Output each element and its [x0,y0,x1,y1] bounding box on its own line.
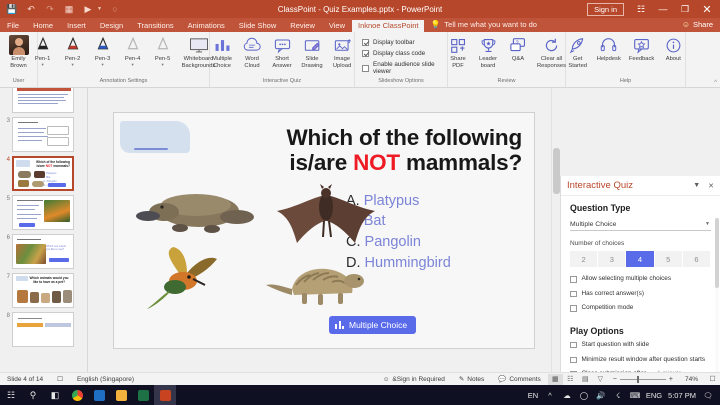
pen-5-caret-icon[interactable]: ▼ [161,63,165,67]
display-toolbar-label: Display toolbar [373,39,415,46]
group-label-interactive-quiz: Interactive Quiz [213,78,351,85]
tab-file[interactable]: File [0,20,26,33]
ribbon-display-options-icon[interactable]: ☷ [630,0,652,18]
image-upload-button[interactable]: Image Upload [327,34,357,71]
panel-title: Interactive Quiz [567,180,633,191]
pen-5-button[interactable]: Pen-5 ▼ [148,34,178,68]
multiple-choice-button[interactable]: Multiple Choice [207,34,237,71]
slide-scrollbar[interactable] [551,88,560,372]
play-options-heading: Play Options [570,326,711,336]
number-of-choices-label: Number of choices [570,240,711,247]
user-name-label: Emily Brown [10,56,26,70]
slide-title-highlight: NOT [353,150,400,175]
ribbon-group-slideshow-options: Display toolbar Display class code Enabl… [355,32,448,87]
comments-button[interactable]: 💬 Comments [491,375,548,383]
start-question-with-slide-label: Start question with slide [582,341,650,350]
pen-2-caret-icon[interactable]: ▼ [71,63,75,67]
notes-label: Notes [467,376,484,383]
tab-view[interactable]: View [322,20,352,33]
tab-home[interactable]: Home [26,20,60,33]
search-icon[interactable]: ⚲ [22,385,44,405]
comment-icon: 💬 [498,375,506,383]
qa-button[interactable]: ? Q&A [503,34,533,64]
get-started-button[interactable]: Get Started [563,34,593,71]
input-language[interactable]: ENG [644,385,664,405]
allow-multiple-choices-label: Allow selecting multiple choices [582,275,672,284]
pen-gray-icon [152,35,174,55]
headset-icon [598,35,620,55]
window-controls: Sign in ☷ — ❐ ✕ [587,0,720,18]
notes-icon: ✎ [459,375,464,383]
zoom-slider[interactable]: − + [608,376,678,383]
ribbon-group-interactive-quiz: Multiple Choice Word Cloud Short Answer [210,32,355,87]
pangolin-image [262,255,378,311]
zoom-level[interactable]: 74% [678,376,705,383]
has-correct-answers-label: Has correct answer(s) [582,290,645,299]
svg-text:?: ? [515,40,518,46]
tab-transitions[interactable]: Transitions [130,20,180,33]
slide-counter[interactable]: Slide 4 of 14 [0,376,50,383]
display-class-code-checkbox[interactable]: Display class code [362,48,425,59]
image-upload-label: Image Upload [333,56,351,70]
customize-qat-icon[interactable]: ○ [109,3,121,15]
has-correct-answers-checkbox[interactable]: Has correct answer(s) [570,290,711,299]
pen-4-caret-icon[interactable]: ▼ [131,63,135,67]
chrome-icon[interactable] [66,385,88,405]
thumbnail-item[interactable]: 6 Which one would you like to see? [0,232,87,271]
slide-drawing-button[interactable]: Slide Drawing [297,34,327,71]
about-button[interactable]: About [658,34,688,64]
pen-1-caret-icon[interactable]: ▼ [41,63,45,67]
checkbox-icon [362,65,369,72]
chevron-up-icon[interactable]: ^ [542,385,558,405]
ribbon-tabs: File Home Insert Design Transitions Anim… [0,18,720,32]
chevron-down-icon: ▼ [705,221,710,227]
short-answer-button[interactable]: Short Answer [267,34,297,71]
ribbon-group-help: Get Started Helpdesk Feedback [566,32,686,87]
tab-inknoe-classpoint[interactable]: Inknoe ClassPoint [352,20,424,33]
slide-sorter-icon[interactable]: ☷ [563,374,578,385]
about-label: About [666,56,681,63]
choice-count-3[interactable]: 3 [598,251,625,267]
display-class-code-label: Display class code [373,50,425,57]
enable-audience-slide-viewer-label: Enable audience slide viewer [373,61,444,75]
notification-icon[interactable]: 🗨 [700,385,716,405]
checkbox-icon [570,276,577,283]
redo-icon[interactable]: ↷ [44,3,56,15]
share-pdf-icon [447,35,469,55]
minimize-icon[interactable]: — [652,0,674,18]
title-bar: 💾 ↶ ↷ ▦ ▶ ▼ ○ ClassPoint - Quiz Examples… [0,0,720,18]
outlook-icon[interactable] [88,385,110,405]
normal-view-icon[interactable]: ▦ [548,374,563,385]
pen-1-button[interactable]: Pen-1 ▼ [28,34,58,68]
scrollbar-thumb[interactable] [715,218,719,288]
interactive-quiz-panel: Interactive Quiz ▼ ✕ Question Type Multi… [560,176,720,405]
group-label-review: Review [451,78,562,85]
slide-drawing-label: Slide Drawing [301,56,322,70]
thumbnail-number: 4 [3,156,12,163]
pen-4-button[interactable]: Pen-4 ▼ [118,34,148,68]
network-icon[interactable]: ◯ [576,385,592,405]
group-label-user: User [3,78,34,85]
scrollbar-thumb[interactable] [553,148,560,194]
checkbox-icon [570,342,577,349]
task-view-icon[interactable]: ◧ [44,385,66,405]
file-explorer-icon[interactable] [110,385,132,405]
pencil-slide-icon [301,35,323,55]
bar-chart-icon [335,321,344,329]
onedrive-icon[interactable]: ☁ [559,385,575,405]
restore-icon[interactable]: ❐ [674,0,696,18]
excel-icon[interactable] [132,385,154,405]
info-icon [662,35,684,55]
cloud-icon [241,35,263,55]
qa-label: Q&A [512,56,524,63]
trophy-icon [477,35,499,55]
enable-audience-slide-viewer-checkbox[interactable]: Enable audience slide viewer [362,59,444,77]
bluetooth-icon[interactable]: ☇ [610,385,626,405]
choice-count-2[interactable]: 2 [570,251,597,267]
choice-count-5[interactable]: 5 [655,251,682,267]
multiple-choice-label: Multiple Choice [212,56,232,70]
share-pdf-button[interactable]: Share PDF [443,34,473,71]
feedback-button[interactable]: Feedback [625,34,658,64]
checkbox-icon [362,39,369,46]
chevron-down-icon[interactable]: ▼ [693,182,700,190]
thumbnail-number: 3 [3,117,12,124]
qat-caret-icon[interactable]: ▼ [97,6,102,12]
current-slide[interactable]: Which of the following is/are NOT mammal… [113,112,535,349]
windows-start-icon[interactable]: ☷ [0,385,22,405]
thumbnail-slide[interactable] [12,195,74,230]
platypus-image [136,185,256,239]
reading-view-icon[interactable]: ▤ [578,374,593,385]
share-person-icon: ☺ [682,20,690,29]
leaderboard-button[interactable]: Leader board [473,34,503,71]
question-type-heading: Question Type [570,203,711,213]
group-label-annotation-settings: Annotation Settings [41,78,206,85]
powerpoint-window: 💾 ↶ ↷ ▦ ▶ ▼ ○ ClassPoint - Quiz Examples… [0,0,720,405]
tell-me-search[interactable]: 💡 Tell me what you want to do [430,20,537,32]
slide-title[interactable]: Which of the following is/are NOT mammal… [222,125,522,176]
share-label: Share [693,20,713,29]
pen-red-icon [62,35,84,55]
thumbnail-item[interactable]: 3 [0,115,87,154]
thumbnail-slide[interactable]: Which animals would you like to have as … [12,273,74,308]
choice-count-6[interactable]: 6 [683,251,710,267]
zoom-knob[interactable] [637,376,640,383]
keyboard-icon[interactable]: ⌨ [627,385,643,405]
save-icon[interactable]: 💾 [6,3,18,15]
thumbnail-slide-current[interactable]: Which of the followingis/are NOT mammals… [12,156,74,191]
thumbnail-number: 5 [3,195,12,202]
status-bar-right: ☺ &Sign in Required ✎ Notes 💬 Comments ▦… [376,374,720,385]
zoom-track[interactable] [620,379,666,380]
lightbulb-icon: 💡 [430,20,440,29]
close-icon[interactable]: ✕ [708,182,714,190]
competition-mode-checkbox[interactable]: Competition mode [570,304,711,313]
avatar [9,35,29,55]
rocket-icon [567,35,589,55]
word-cloud-button[interactable]: Word Cloud [237,34,267,71]
share-pdf-label: Share PDF [450,56,465,70]
panel-header: Interactive Quiz ▼ ✕ [561,176,720,196]
group-label-slideshow-options: Slideshow Options [358,78,444,85]
tab-insert[interactable]: Insert [60,20,93,33]
notes-button[interactable]: ✎ Notes [452,375,491,383]
slideshow-from-current-icon[interactable]: ▶ [82,3,94,15]
workspace: 2 3 [0,88,720,372]
collapse-ribbon-icon[interactable]: ^ [714,80,717,86]
competition-mode-label: Competition mode [582,304,634,313]
multiple-choice-badge[interactable]: Multiple Choice [329,316,416,334]
clock[interactable]: 5:07 PM [665,385,699,405]
tell-me-placeholder: Tell me what you want to do [444,20,537,29]
minimize-result-window-label: Minimize result window after question st… [582,356,706,365]
pen-2-button[interactable]: Pen-2 ▼ [58,34,88,68]
allow-multiple-choices-checkbox[interactable]: Allow selecting multiple choices [570,275,711,284]
slide-thumbnail-pane[interactable]: 2 3 [0,88,88,372]
feedback-label: Feedback [629,56,654,63]
pen-black-icon [32,35,54,55]
quick-access-toolbar: 💾 ↶ ↷ ▦ ▶ ▼ ○ [0,3,121,15]
start-presentation-icon[interactable]: ▦ [63,3,75,15]
question-type-select[interactable]: Multiple Choice ▼ [570,218,711,231]
number-of-choices-group: 2 3 4 5 6 [570,251,711,267]
thumbnail-slide[interactable]: Which one would you like to see? [12,234,74,269]
volume-icon[interactable]: 🔊 [593,385,609,405]
get-started-label: Get Started [568,56,587,70]
slideshow-view-icon[interactable]: ▽ [593,374,608,385]
pen-3-button[interactable]: Pen-3 ▼ [88,34,118,68]
short-answer-label: Short Answer [272,56,291,70]
slide-editing-area[interactable]: Which of the following is/are NOT mammal… [88,88,560,372]
thumbnail-number: 8 [3,312,12,319]
share-button[interactable]: ☺ Share [682,20,720,32]
thumbnail-item[interactable]: 8 [0,310,87,349]
speech-bubble-icon [271,35,293,55]
choice-count-4[interactable]: 4 [626,251,653,267]
sign-in-required-label: &Sign in Required [392,376,444,383]
checkbox-icon [570,291,577,298]
person-icon: ☺ [383,376,390,383]
fit-slide-icon[interactable]: ☐ [705,374,720,385]
multiple-choice-badge-label: Multiple Choice [349,320,407,330]
bar-chart-icon [211,35,233,55]
tab-review[interactable]: Review [283,20,322,33]
zoom-in-button[interactable]: + [669,376,673,383]
ribbon-group-annotation-settings: Pen-1 ▼ Pen-2 ▼ Pen-3 ▼ [38,32,210,87]
slide-title-line2: is/are NOT mammals? [222,150,522,175]
checkbox-icon [570,357,577,364]
thumbnail-item[interactable]: 5 [0,193,87,232]
tab-design[interactable]: Design [93,20,130,33]
leaderboard-label: Leader board [479,56,497,70]
accessibility-icon[interactable]: ☐ [50,375,70,383]
status-bar: Slide 4 of 14 ☐ English (Singapore) ☺ &S… [0,372,720,385]
clear-all-responses-label: Clear all Responses [537,56,566,70]
ribbon-group-review: Share PDF Leader board ? Q&A [448,32,566,87]
start-question-with-slide-checkbox[interactable]: Start question with slide [570,341,711,350]
pen-gray-icon [122,35,144,55]
thumbnail-number: 7 [3,273,12,280]
undo-icon[interactable]: ↶ [25,3,37,15]
qa-icon: ? [507,35,529,55]
group-label-help: Help [569,78,682,85]
zoom-out-button[interactable]: − [613,376,617,383]
hummingbird-image [139,243,243,313]
checkbox-icon [362,50,369,57]
ime-indicator[interactable]: EN [525,385,541,405]
ribbon: Emily Brown User Pen-1 ▼ Pen [0,32,720,88]
thumbnail-item[interactable]: 2 [0,88,87,115]
image-upload-icon [331,35,353,55]
tab-animations[interactable]: Animations [181,20,232,33]
thumbnail-number: 6 [3,234,12,241]
thumbnail-slide[interactable] [12,88,74,113]
thumbnail-item[interactable]: 7 Which animals would you like to have a… [0,271,87,310]
question-type-value: Multiple Choice [570,221,616,228]
system-tray: EN ^ ☁ ◯ 🔊 ☇ ⌨ ENG 5:07 PM 🗨 [525,385,720,405]
bat-image [267,181,385,255]
refresh-icon [541,35,563,55]
pen-blue-icon [92,35,114,55]
feedback-star-icon [631,35,653,55]
powerpoint-icon[interactable] [154,385,176,405]
helpdesk-label: Helpdesk [597,56,621,63]
helpdesk-button[interactable]: Helpdesk [593,34,625,64]
language-indicator[interactable]: English (Singapore) [70,376,141,383]
sign-in-button[interactable]: Sign in [587,3,624,16]
thumbnail-slide[interactable] [12,312,74,347]
decorative-underline [134,148,168,151]
minimize-result-window-checkbox[interactable]: Minimize result window after question st… [570,356,711,365]
thumbnail-item-selected[interactable]: 4 Which of the followingis/are NOT mamma… [0,154,87,193]
windows-taskbar: ☷ ⚲ ◧ EN ^ ☁ ◯ 🔊 ☇ ⌨ ENG 5:07 PM 🗨 [0,385,720,405]
thumbnail-slide[interactable] [12,117,74,152]
comments-label: Comments [509,376,540,383]
word-cloud-label: Word Cloud [244,56,259,70]
tab-slide-show[interactable]: Slide Show [232,20,284,33]
slide-title-line1: Which of the following [222,125,522,150]
display-toolbar-checkbox[interactable]: Display toolbar [362,37,415,48]
checkbox-icon [570,305,577,312]
sign-in-required-status[interactable]: ☺ &Sign in Required [376,376,452,383]
pen-3-caret-icon[interactable]: ▼ [101,63,105,67]
close-icon[interactable]: ✕ [696,0,718,18]
